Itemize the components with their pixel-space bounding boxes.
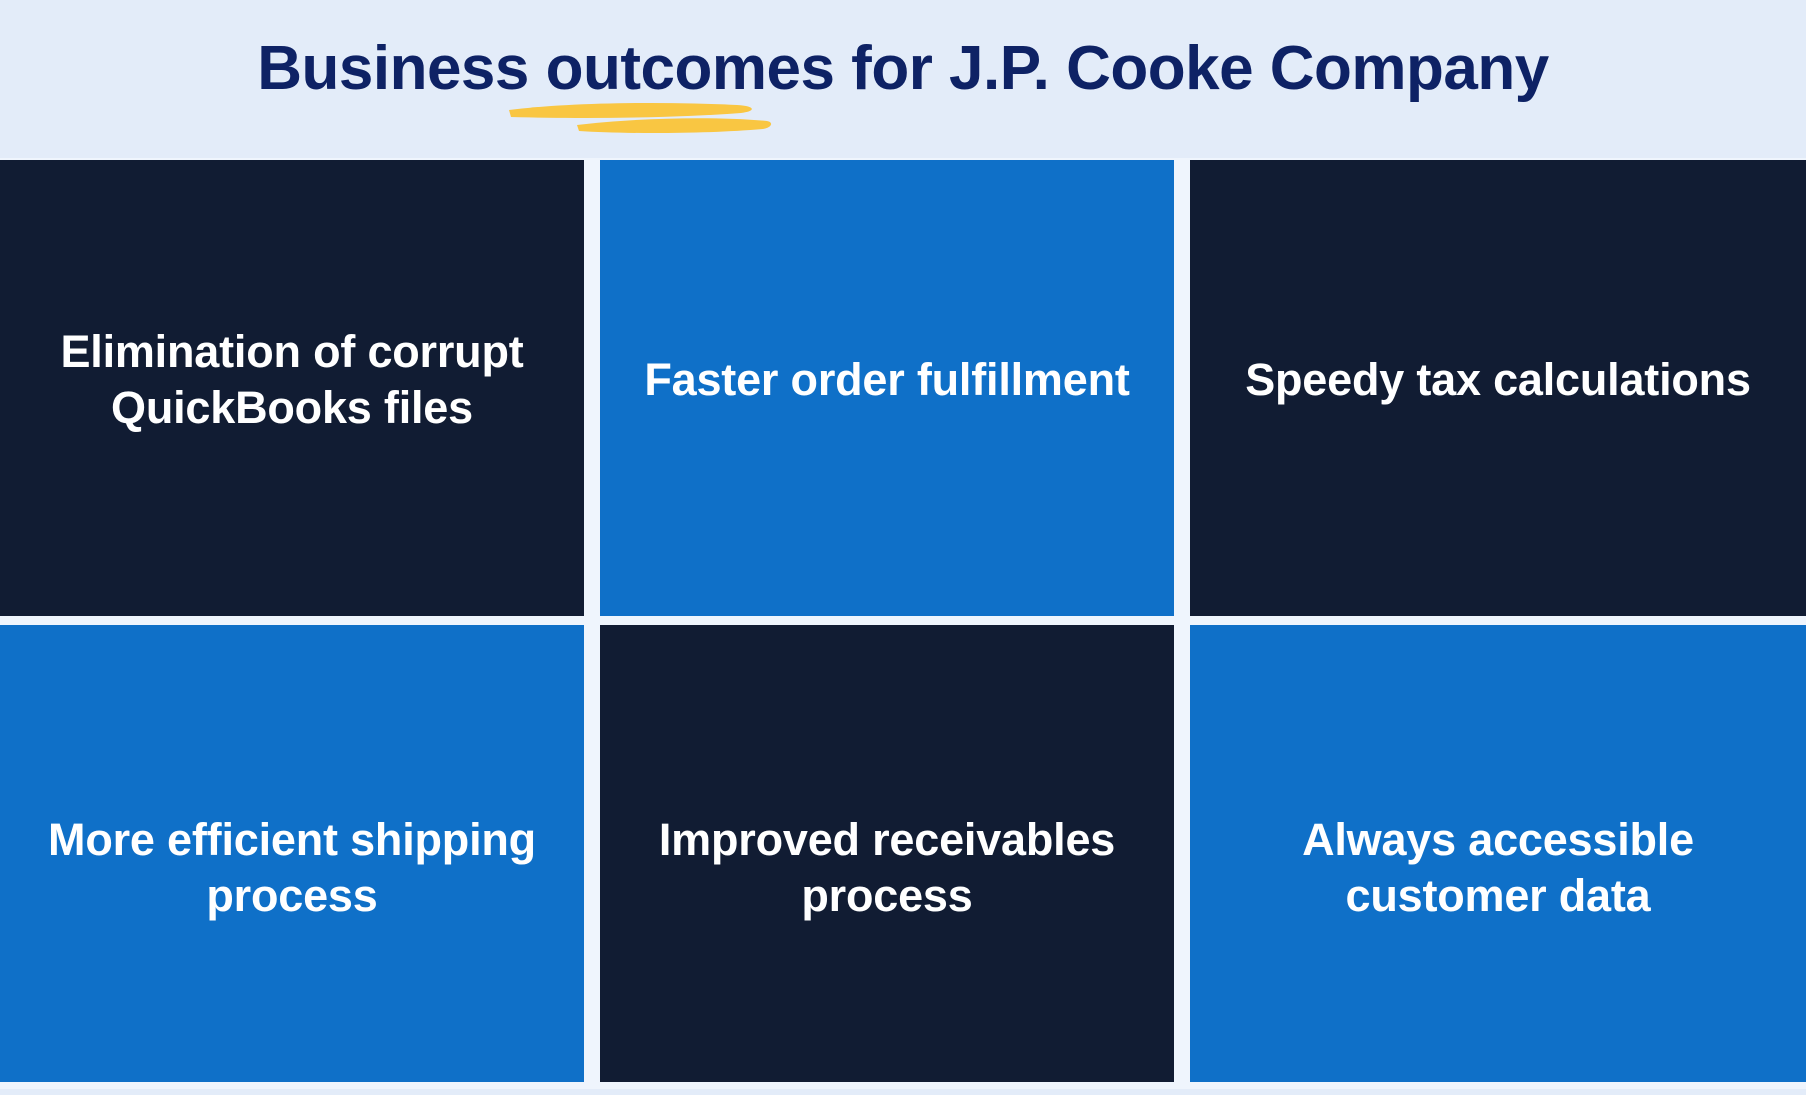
outcome-tile-1-surface: Elimination of corrupt QuickBooks files [0,160,584,616]
outcome-tile-4-surface: More efficient shipping process [0,625,584,1082]
outcome-tile-6[interactable]: Always accessible customer data [1190,625,1806,1089]
outcome-tile-2-label: Faster order fulfillment [600,352,1174,408]
outcome-tile-6-label: Always accessible customer data [1190,812,1806,924]
title-block: Business outcomes for J.P. Cooke Company [0,0,1806,158]
outcomes-grid: Elimination of corrupt QuickBooks files … [0,158,1806,1089]
outcome-tile-3-surface: Speedy tax calculations [1190,160,1806,616]
outcome-tile-5[interactable]: Improved receivables process [600,625,1190,1089]
outcome-tile-1[interactable]: Elimination of corrupt QuickBooks files [0,158,600,625]
outcome-tile-1-label: Elimination of corrupt QuickBooks files [0,324,584,436]
outcome-tile-2-surface: Faster order fulfillment [600,160,1174,616]
outcome-tile-3[interactable]: Speedy tax calculations [1190,158,1806,625]
outcome-tile-3-label: Speedy tax calculations [1190,352,1806,408]
outcome-tile-4[interactable]: More efficient shipping process [0,625,600,1089]
outcome-tile-5-label: Improved receivables process [600,812,1174,924]
outcome-tile-5-surface: Improved receivables process [600,625,1174,1082]
outcome-tile-6-surface: Always accessible customer data [1190,625,1806,1082]
outcome-tile-2[interactable]: Faster order fulfillment [600,158,1190,625]
page-title: Business outcomes for J.P. Cooke Company [0,33,1806,105]
outcome-tile-4-label: More efficient shipping process [0,812,584,924]
slide-canvas: Business outcomes for J.P. Cooke Company… [0,0,1806,1095]
